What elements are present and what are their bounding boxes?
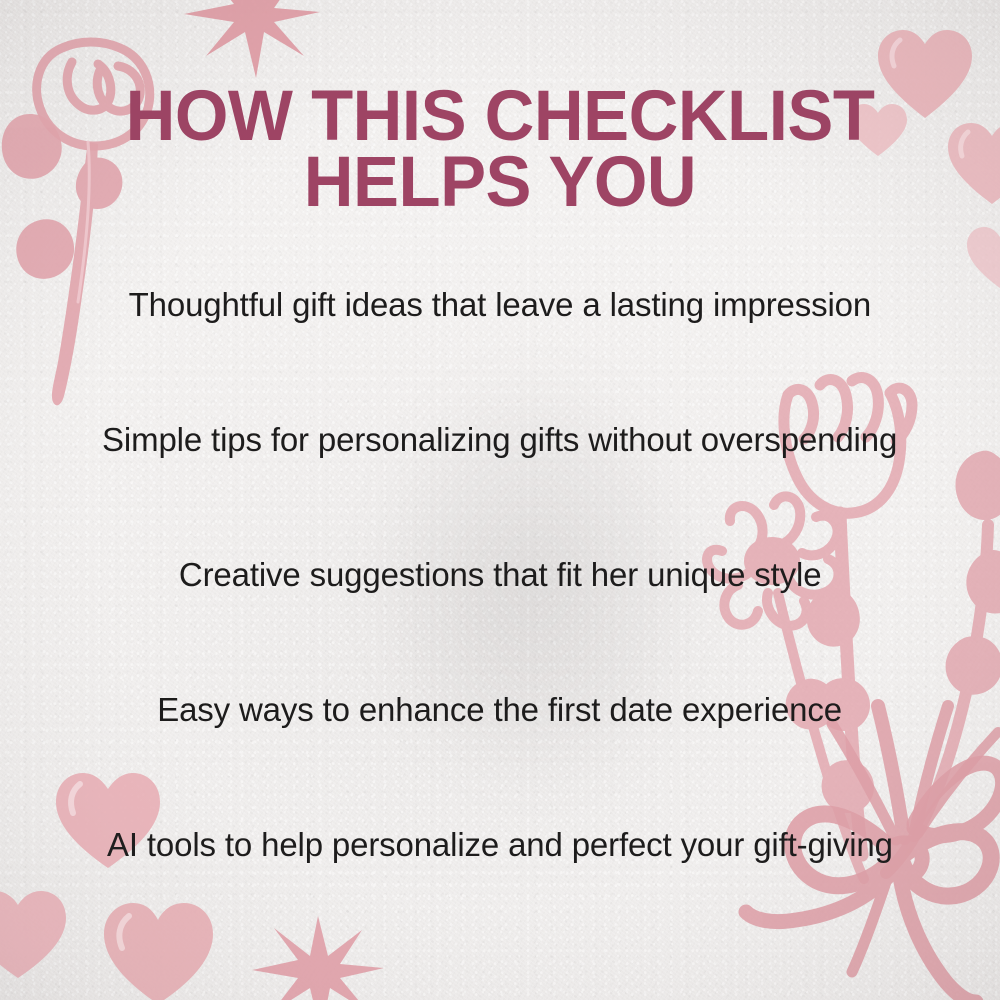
benefit-text-3: Creative suggestions that fit her unique… xyxy=(179,558,822,595)
page-title: HOW THIS CHECKLIST HELPS YOU xyxy=(0,84,1000,216)
benefits-list: Thoughtful gift ideas that leave a lasti… xyxy=(0,288,1000,963)
benefit-text-2: Simple tips for personalizing gifts with… xyxy=(102,423,897,460)
poster-canvas: HOW THIS CHECKLIST HELPS YOU Thoughtful … xyxy=(0,0,1000,1000)
page-title-line-1: HOW THIS CHECKLIST xyxy=(54,84,946,150)
list-item: Thoughtful gift ideas that leave a lasti… xyxy=(0,288,1000,423)
benefit-text-5: AI tools to help personalize and perfect… xyxy=(107,828,893,865)
page-title-line-2: HELPS YOU xyxy=(54,150,946,216)
list-item: Simple tips for personalizing gifts with… xyxy=(0,423,1000,558)
benefit-text-1: Thoughtful gift ideas that leave a lasti… xyxy=(129,288,871,325)
list-item: AI tools to help personalize and perfect… xyxy=(0,828,1000,963)
benefit-text-4: Easy ways to enhance the first date expe… xyxy=(158,693,843,730)
list-item: Creative suggestions that fit her unique… xyxy=(0,558,1000,693)
content-layer: HOW THIS CHECKLIST HELPS YOU Thoughtful … xyxy=(0,0,1000,1000)
list-item: Easy ways to enhance the first date expe… xyxy=(0,693,1000,828)
